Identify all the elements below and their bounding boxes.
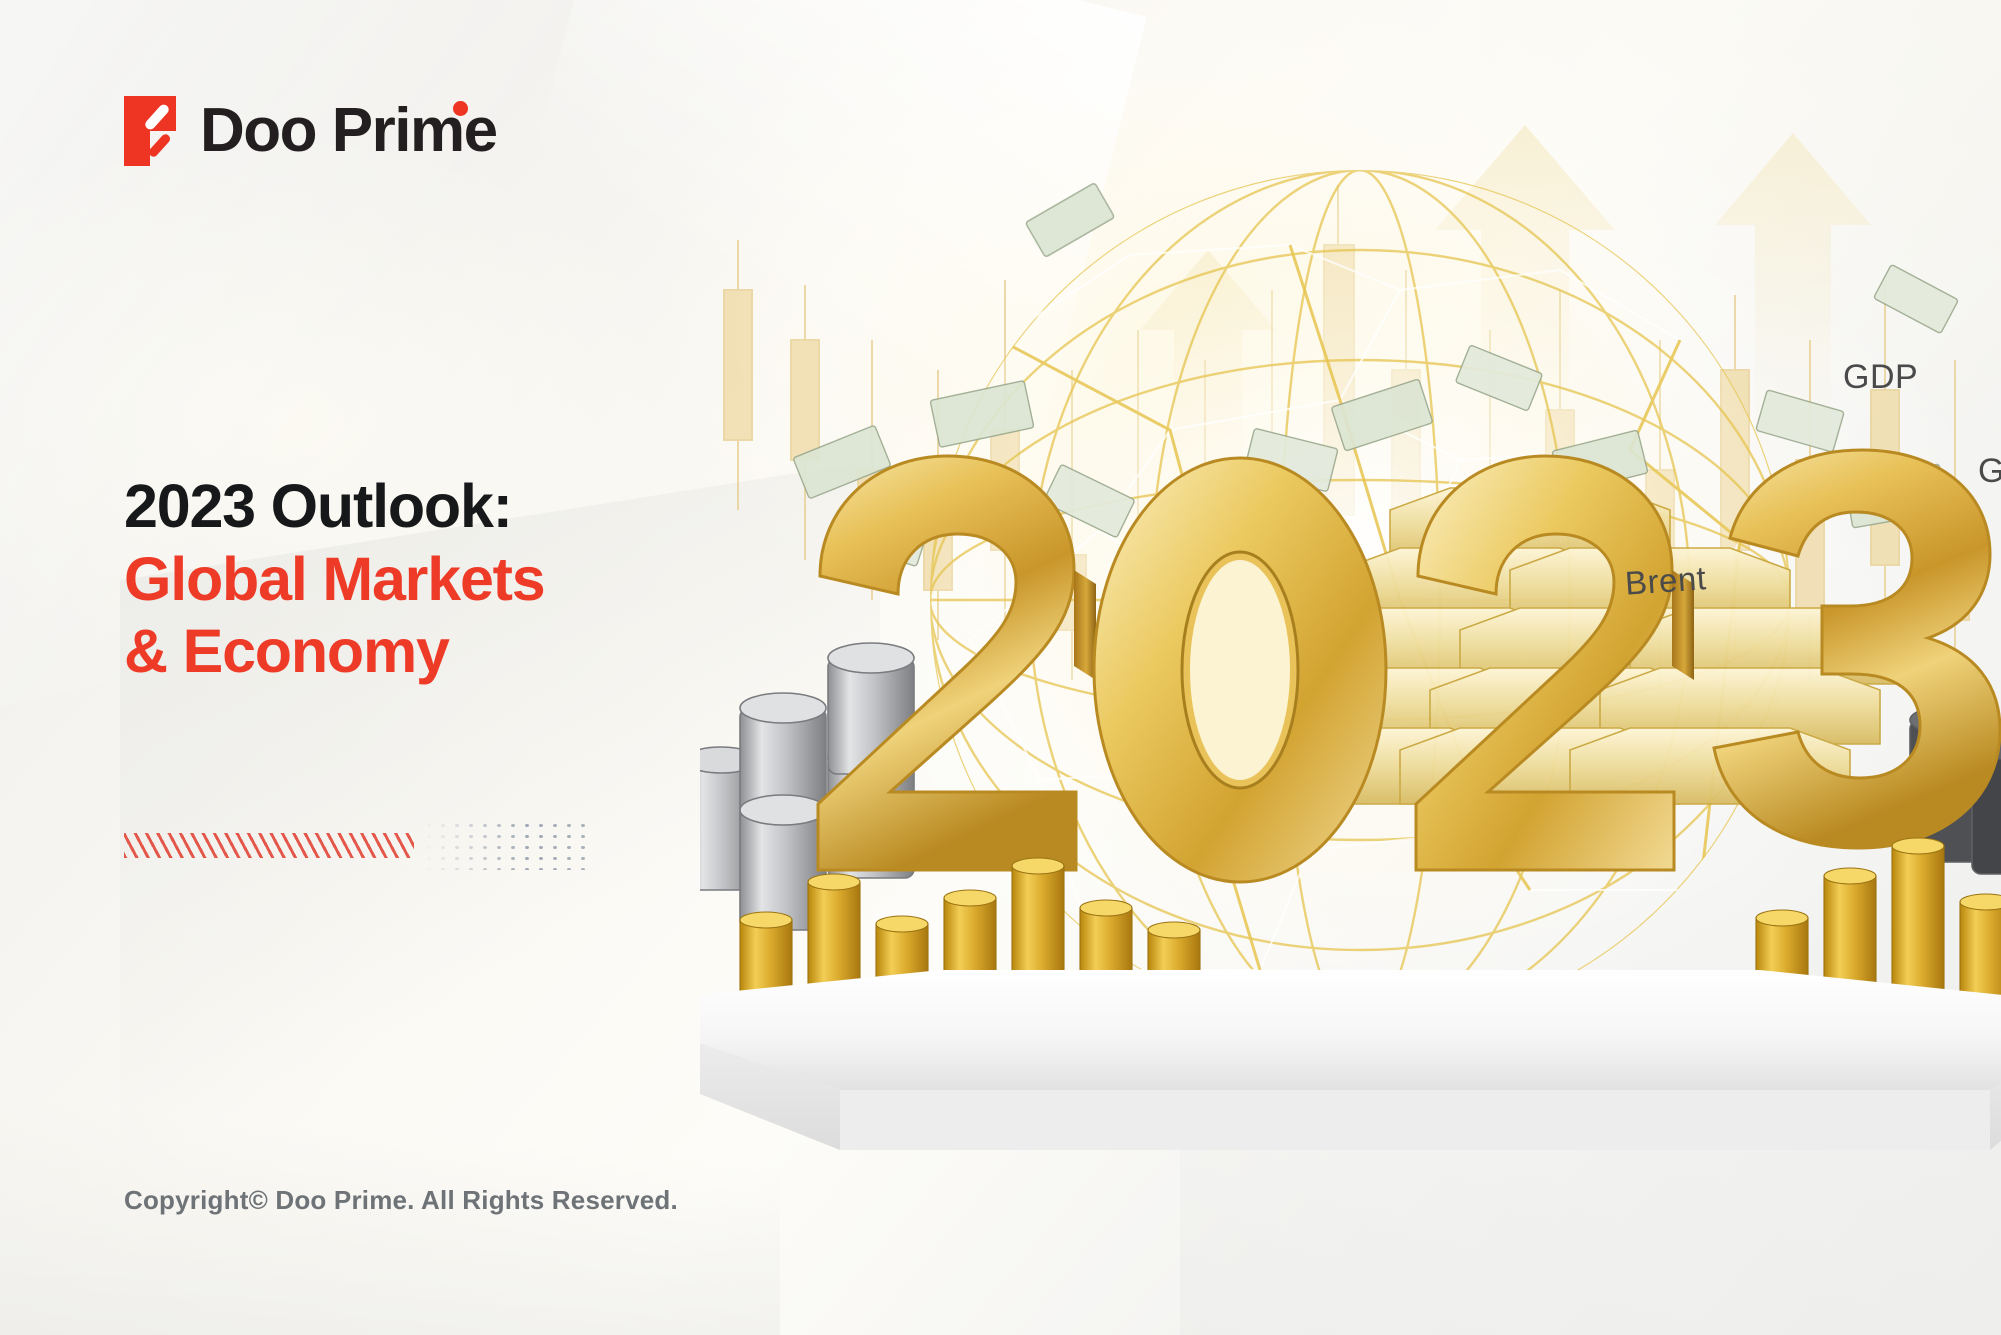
brand-wordmark: Doo Prime (200, 100, 497, 162)
headline-line-3: & Economy (124, 615, 684, 688)
hero-illustration: GDP Gold S&P 500 Brent WTI (700, 40, 2001, 1270)
diagonal-stripes-graphic (124, 833, 414, 858)
label-gdp: GDP (1843, 358, 1918, 397)
decorative-divider (124, 820, 594, 870)
poster-canvas: Doo Prime 2023 Outlook: Global Markets &… (0, 0, 2001, 1335)
dot-grid-graphic (422, 820, 594, 870)
page-title: 2023 Outlook: Global Markets & Economy (124, 470, 684, 688)
brand-logo: Doo Prime (124, 96, 497, 166)
illustration-svg (700, 40, 2001, 1270)
doo-prime-logo-mark-icon (124, 96, 176, 166)
brand-name-text: Doo Prime (200, 96, 497, 165)
headline-line-1: 2023 Outlook: (124, 470, 684, 543)
label-gold: Gold (1978, 452, 2001, 491)
copyright-text: Copyright© Doo Prime. All Rights Reserve… (124, 1185, 678, 1216)
label-brent: Brent (1624, 559, 1708, 603)
headline-line-2: Global Markets (124, 543, 684, 616)
logo-accent-dot-icon (453, 101, 468, 116)
left-content-column: Doo Prime 2023 Outlook: Global Markets &… (0, 0, 700, 1335)
numeral-0 (1094, 458, 1386, 882)
white-podium (700, 970, 2001, 1150)
